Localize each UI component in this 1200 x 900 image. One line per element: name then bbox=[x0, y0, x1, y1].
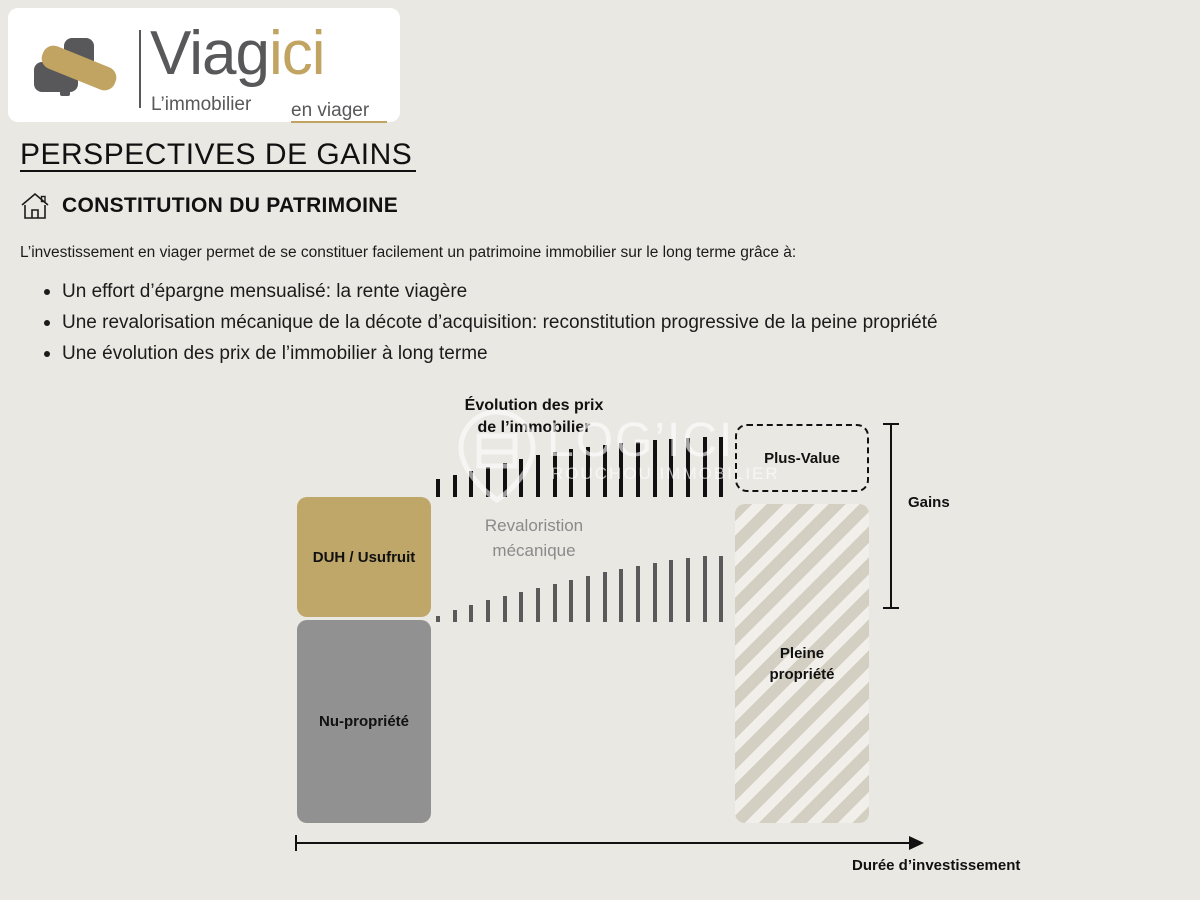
chart-bar bbox=[619, 443, 623, 497]
chart-bar bbox=[719, 556, 723, 622]
revalorisation-bar-series bbox=[436, 556, 736, 622]
chart-bar bbox=[536, 588, 540, 622]
evolution-prix-label: Évolution des prix de l’immobilier bbox=[418, 395, 650, 439]
chart-bar bbox=[486, 467, 490, 497]
chart-bar bbox=[553, 584, 557, 622]
chart-bar bbox=[653, 563, 657, 622]
chart-bar bbox=[553, 452, 557, 497]
chart-bar bbox=[436, 479, 440, 497]
chart-bar bbox=[636, 566, 640, 622]
box-plus-value: Plus-Value bbox=[735, 424, 869, 492]
box-nu-propriete: Nu-propriété bbox=[297, 620, 431, 823]
chart-bar bbox=[453, 475, 457, 497]
chart-bar bbox=[586, 447, 590, 497]
chart-bar bbox=[453, 610, 457, 622]
chart-bar bbox=[619, 569, 623, 622]
chart-bar bbox=[603, 445, 607, 497]
evolution-prix-label-line1: Évolution des prix bbox=[418, 395, 650, 417]
chart-bar bbox=[686, 558, 690, 622]
revalorisation-label-line1: Revaloristion bbox=[418, 513, 650, 538]
chart-bar bbox=[536, 455, 540, 497]
chart-bar bbox=[469, 471, 473, 497]
duree-axis-arrowhead bbox=[909, 836, 924, 850]
chart-bar bbox=[719, 437, 723, 497]
chart-bar bbox=[669, 439, 673, 497]
chart-bar bbox=[503, 463, 507, 497]
box-pleine-propriete-label-line1: Pleine bbox=[769, 643, 834, 664]
gains-bracket-cap-bottom bbox=[883, 607, 899, 609]
gains-bracket-stem bbox=[890, 423, 892, 609]
duree-axis bbox=[295, 832, 927, 854]
chart-bar bbox=[669, 560, 673, 622]
evolution-prix-label-line2: de l’immobilier bbox=[418, 417, 650, 439]
duree-axis-label: Durée d’investissement bbox=[852, 857, 1020, 874]
box-plus-value-label: Plus-Value bbox=[764, 450, 840, 467]
chart-bar bbox=[503, 596, 507, 622]
chart-bar bbox=[519, 459, 523, 497]
chart-bar bbox=[653, 440, 657, 497]
chart-bar bbox=[486, 600, 490, 622]
evolution-prix-bar-series bbox=[436, 437, 736, 497]
chart-bar bbox=[703, 556, 707, 622]
chart-bar bbox=[703, 437, 707, 497]
box-nu-propriete-label: Nu-propriété bbox=[319, 713, 409, 730]
gains-label: Gains bbox=[908, 494, 950, 511]
patrimoine-diagram: Évolution des prix de l’immobilier LOG’I… bbox=[0, 0, 1200, 900]
chart-bar bbox=[519, 592, 523, 622]
gains-bracket bbox=[883, 423, 899, 609]
duree-axis-line bbox=[295, 842, 913, 844]
chart-bar bbox=[569, 449, 573, 497]
chart-bar bbox=[469, 605, 473, 622]
box-pleine-propriete-label-line2: propriété bbox=[769, 664, 834, 685]
chart-bar bbox=[436, 616, 440, 622]
chart-bar bbox=[686, 438, 690, 497]
box-duh-usufruit: DUH / Usufruit bbox=[297, 497, 431, 617]
box-duh-usufruit-label: DUH / Usufruit bbox=[313, 549, 416, 566]
chart-bar bbox=[603, 572, 607, 622]
chart-bar bbox=[586, 576, 590, 622]
box-pleine-propriete: Pleine propriété bbox=[735, 504, 869, 823]
chart-bar bbox=[569, 580, 573, 622]
chart-bar bbox=[636, 442, 640, 497]
